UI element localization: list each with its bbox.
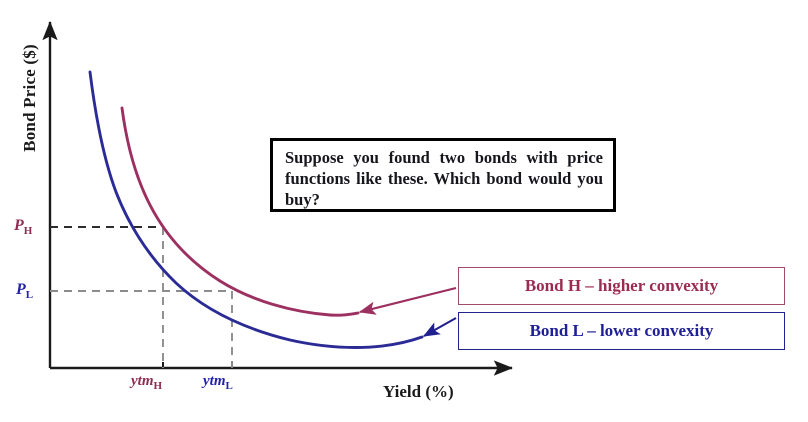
price-l-subscript: L [26, 289, 33, 301]
price-l-symbol: P [16, 281, 26, 298]
x-tick-label-ytm-h: ytmH [131, 373, 162, 392]
legend-item-bond-h: Bond H – higher convexity [458, 267, 785, 305]
ytm-l-symbol: ytm [203, 373, 226, 389]
arrow-to-bond-h-curve [360, 288, 456, 312]
y-axis-label: Bond Price ($) [20, 8, 40, 188]
arrow-to-bond-l-curve [424, 318, 456, 336]
legend-label-bond-h: Bond H – higher convexity [525, 276, 718, 296]
price-h-symbol: P [14, 217, 24, 234]
ytm-l-subscript: L [226, 380, 233, 392]
legend-label-bond-l: Bond L – lower convexity [530, 321, 714, 341]
y-tick-label-price-h: PH [14, 217, 32, 237]
bond-convexity-figure: Bond Price ($) Yield (%) PH PL ytmH ytmL… [0, 0, 808, 422]
x-axis-label: Yield (%) [383, 382, 454, 402]
ytm-h-symbol: ytm [131, 373, 154, 389]
question-callout-text: Suppose you found two bonds with price f… [285, 147, 603, 210]
y-tick-label-price-l: PL [16, 281, 33, 301]
price-h-subscript: H [24, 225, 33, 237]
x-tick-label-ytm-l: ytmL [203, 373, 233, 392]
ytm-h-subscript: H [154, 380, 163, 392]
legend-item-bond-l: Bond L – lower convexity [458, 312, 785, 350]
question-callout-box: Suppose you found two bonds with price f… [270, 138, 616, 212]
